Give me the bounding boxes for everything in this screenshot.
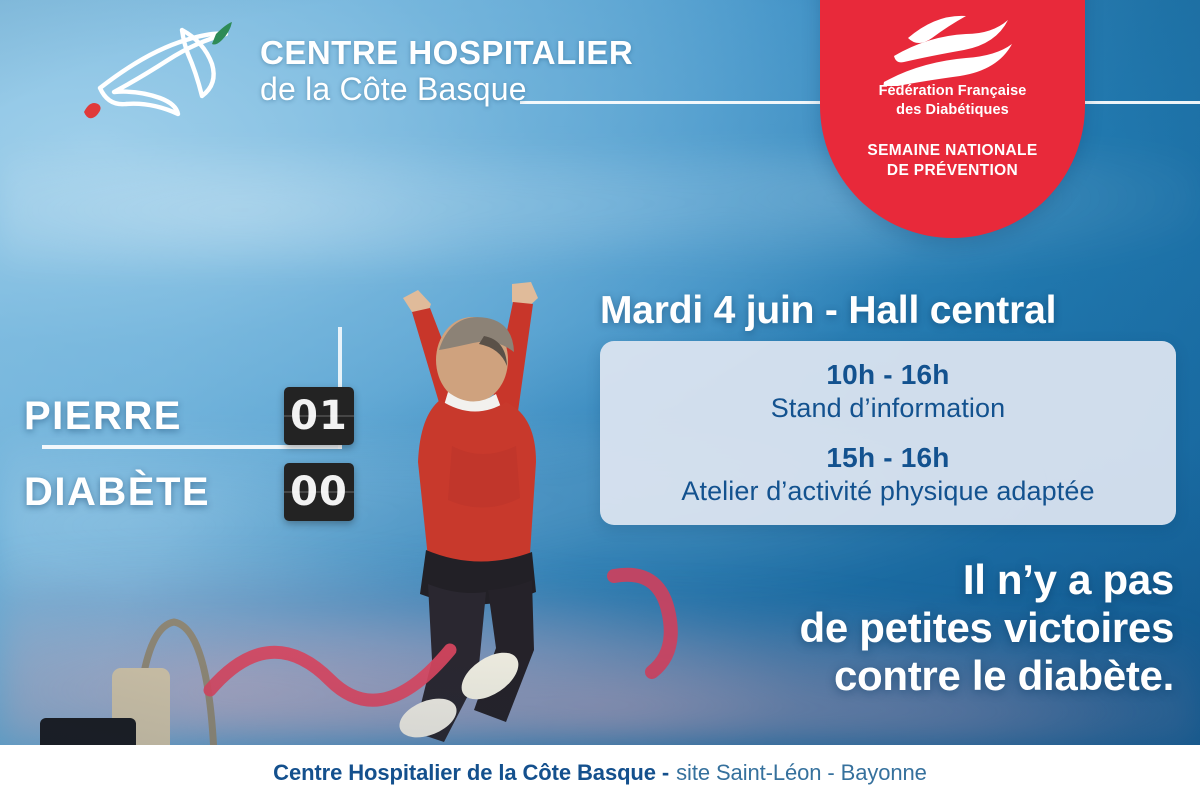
scoreboard: PIERRE 01 DIABÈTE 00 xyxy=(24,385,354,523)
session-2-time: 15h - 16h xyxy=(618,442,1158,474)
logo-line-1: CENTRE HOSPITALIER xyxy=(260,36,633,70)
footer-bar: Centre Hospitalier de la Côte Basque - s… xyxy=(0,745,1200,800)
campaign-line-2: DE PRÉVENTION xyxy=(867,161,1037,181)
scoreboard-score-value: 01 xyxy=(290,393,348,439)
ffd-bird-icon xyxy=(878,12,1028,86)
campaign-line-1: SEMAINE NATIONALE xyxy=(867,141,1037,161)
bird-wave-logo-icon xyxy=(70,20,250,120)
scoreboard-label: PIERRE xyxy=(24,394,182,439)
tagline-line-1: Il n’y a pas xyxy=(534,556,1174,604)
scoreboard-score-box: 01 xyxy=(284,387,354,445)
scoreboard-divider xyxy=(42,445,342,449)
ffd-org-name: Fédération Française des Diabétiques xyxy=(879,82,1027,119)
footer-institution-name: Centre Hospitalier de la Côte Basque - xyxy=(273,760,669,786)
hospital-logo[interactable]: CENTRE HOSPITALIER de la Côte Basque xyxy=(70,20,633,120)
scoreboard-row-pierre: PIERRE 01 xyxy=(24,385,354,447)
session-2-description: Atelier d’activité physique adaptée xyxy=(618,476,1158,507)
ribbon-left xyxy=(200,580,500,730)
session-1-description: Stand d’information xyxy=(618,393,1158,424)
schedule-info-box: 10h - 16h Stand d’information 15h - 16h … xyxy=(600,341,1176,525)
campaign-tagline: Il n’y a pas de petites victoires contre… xyxy=(534,556,1174,700)
session-1-time: 10h - 16h xyxy=(618,359,1158,391)
tagline-line-3: contre le diabète. xyxy=(534,652,1174,700)
ffd-org-line-2: des Diabétiques xyxy=(879,101,1027,120)
footer-site-name: site Saint-Léon - Bayonne xyxy=(676,760,927,786)
scoreboard-row-diabete: DIABÈTE 00 xyxy=(24,461,354,523)
tagline-line-2: de petites victoires xyxy=(534,604,1174,652)
hospital-logo-text: CENTRE HOSPITALIER de la Côte Basque xyxy=(260,36,633,105)
logo-line-2: de la Côte Basque xyxy=(260,73,633,106)
scoreboard-score-box: 00 xyxy=(284,463,354,521)
campaign-title: SEMAINE NATIONALE DE PRÉVENTION xyxy=(867,141,1037,181)
poster-canvas: CENTRE HOSPITALIER de la Côte Basque Féd… xyxy=(0,0,1200,800)
scoreboard-score-value: 00 xyxy=(290,469,348,515)
event-headline: Mardi 4 juin - Hall central xyxy=(600,289,1180,333)
schedule-spacer xyxy=(618,424,1158,438)
scoreboard-label: DIABÈTE xyxy=(24,470,210,515)
